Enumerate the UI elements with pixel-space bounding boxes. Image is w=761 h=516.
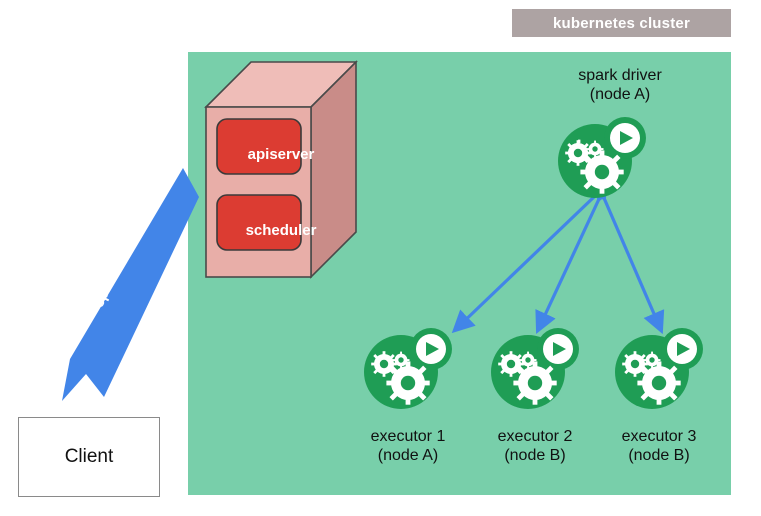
spark-submit-arrow: [60, 165, 210, 405]
cluster-banner-label: kubernetes cluster: [553, 15, 690, 32]
executor-1-icon: [360, 328, 455, 410]
spark-driver-label: spark driver (node A): [540, 66, 700, 104]
executor-1-label-line1: executor 1: [338, 427, 478, 446]
executor-3-icon: [611, 328, 706, 410]
executor-3-label: executor 3 (node B): [589, 427, 729, 465]
spark-driver-label-line1: spark driver: [540, 66, 700, 85]
cluster-banner: kubernetes cluster: [512, 9, 731, 37]
executor-2-label-line1: executor 2: [465, 427, 605, 446]
executor-3-label-line1: executor 3: [589, 427, 729, 446]
executor-3-label-line2: (node B): [589, 446, 729, 465]
executor-1-label: executor 1 (node A): [338, 427, 478, 465]
executor-2-label-line2: (node B): [465, 446, 605, 465]
client-box: Client: [18, 417, 160, 497]
executor-2-label: executor 2 (node B): [465, 427, 605, 465]
executor-2-icon: [487, 328, 582, 410]
spark-driver-label-line2: (node A): [540, 85, 700, 104]
diagram-canvas: kubernetes cluster Client apiserver sche…: [0, 0, 761, 516]
client-label: Client: [65, 446, 114, 468]
control-plane-cube: apiserver scheduler: [206, 62, 356, 277]
executor-1-label-line2: (node A): [338, 446, 478, 465]
spark-driver-icon: [554, 117, 649, 199]
